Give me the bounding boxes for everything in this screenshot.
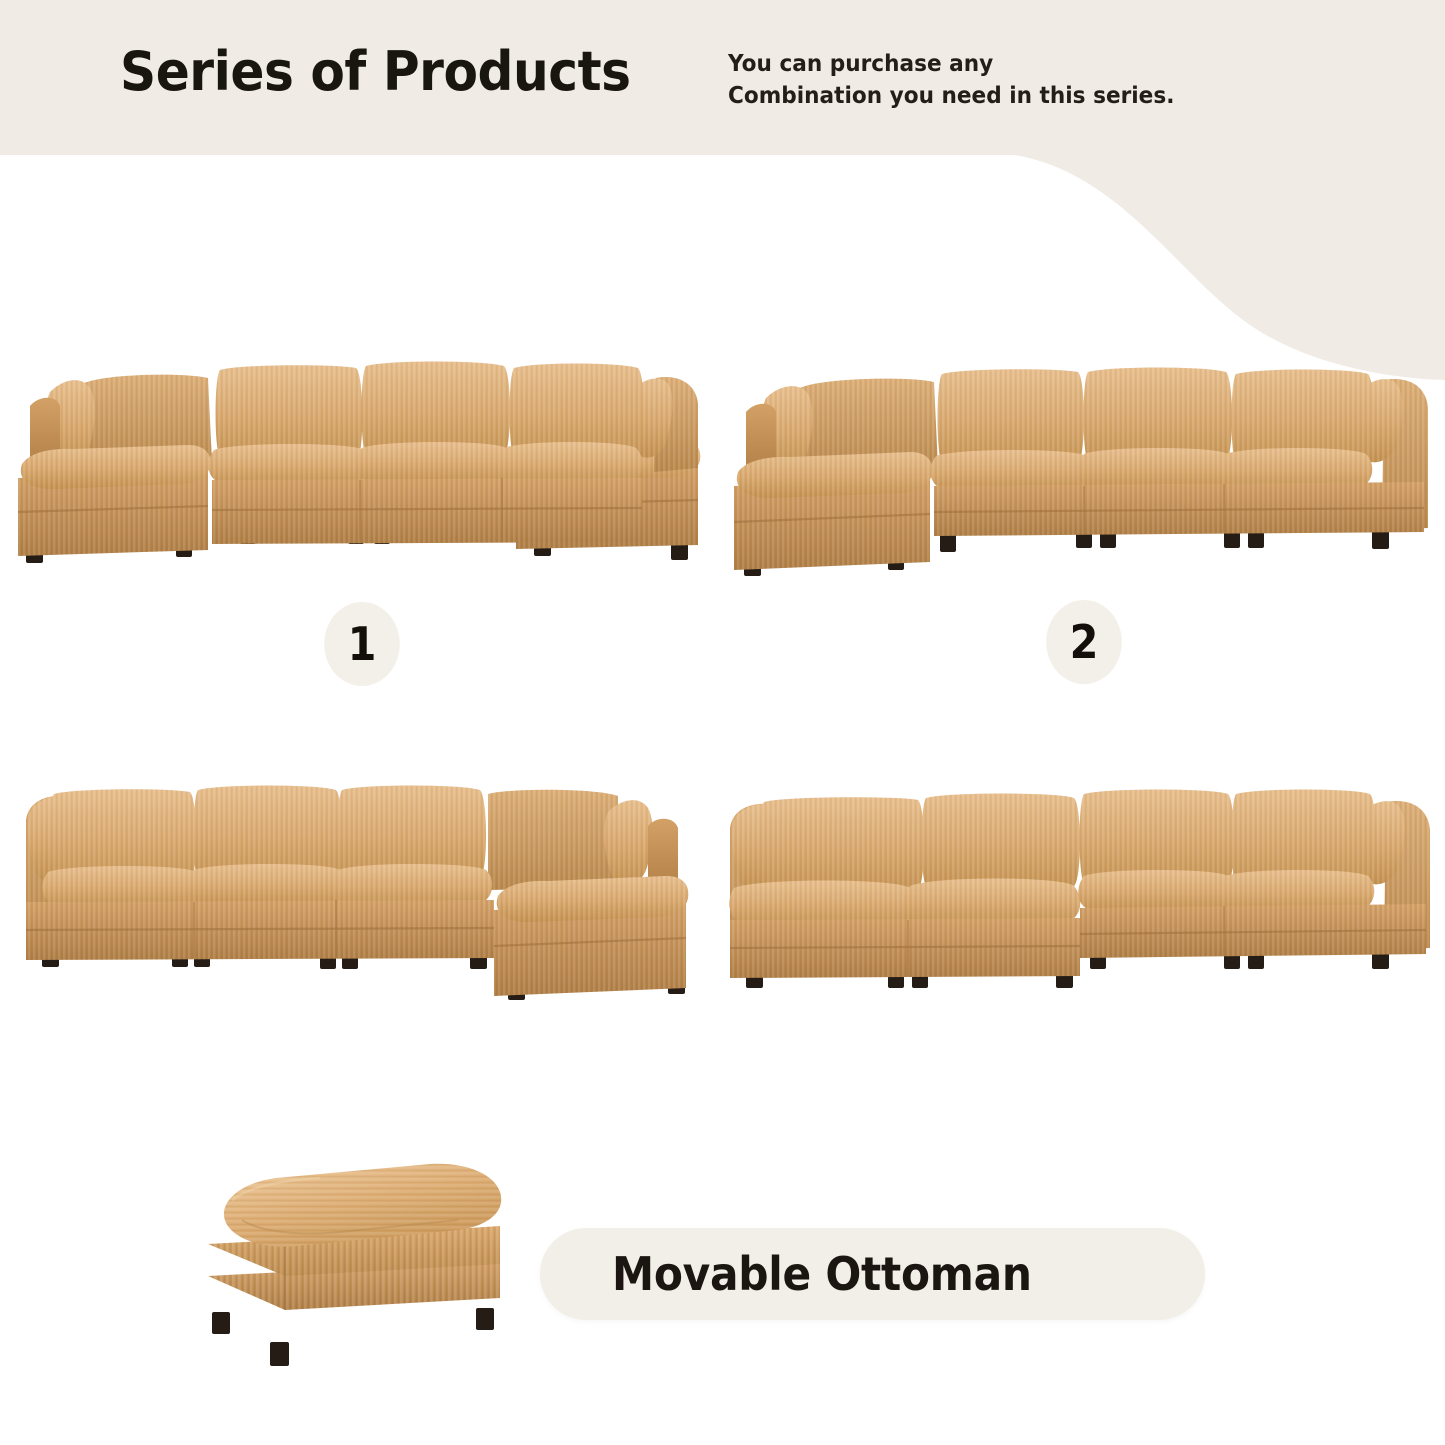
header-subtitle: You can purchase any Combination you nee… [728, 48, 1174, 112]
product-card-1[interactable]: 1 [8, 350, 708, 615]
movable-ottoman-banner: Movable Ottoman [540, 1228, 1205, 1320]
product-image-1 [8, 350, 708, 615]
ottoman-illustration [190, 1160, 580, 1390]
product-image-4 [712, 770, 1442, 1035]
ottoman-legs [212, 1308, 494, 1366]
page-title: Series of Products [120, 40, 631, 103]
sofa-base-1 [212, 478, 642, 544]
product-image-2 [712, 350, 1442, 615]
product-card-4[interactable]: 4 [712, 770, 1442, 1035]
sofa-illustration-2 [712, 350, 1442, 585]
product-infographic-page: Series of Products You can purchase any … [0, 0, 1445, 1445]
movable-ottoman-label: Movable Ottoman [612, 1247, 1032, 1301]
left-ottoman-1 [18, 445, 210, 556]
product-badge-2: 2 [1046, 600, 1122, 684]
sofa-base-2 [934, 482, 1424, 536]
sofa-illustration-3 [8, 770, 708, 1010]
product-card-3[interactable]: 3 [8, 770, 708, 1035]
movable-ottoman-image [190, 1160, 580, 1390]
product-card-2[interactable]: 2 [712, 350, 1442, 615]
sofa-base-3 [26, 900, 494, 960]
header-banner-curve [0, 150, 1445, 380]
product-badge-1: 1 [324, 602, 400, 686]
sofa-illustration-4 [712, 770, 1442, 1005]
left-ottoman-2 [734, 452, 932, 570]
sofa-illustration-1 [8, 350, 708, 580]
product-image-3 [8, 770, 708, 1035]
header-subtitle-line-1: You can purchase any [728, 48, 1174, 80]
right-ottoman-3 [494, 876, 688, 996]
header-subtitle-line-2: Combination you need in this series. [728, 80, 1174, 112]
